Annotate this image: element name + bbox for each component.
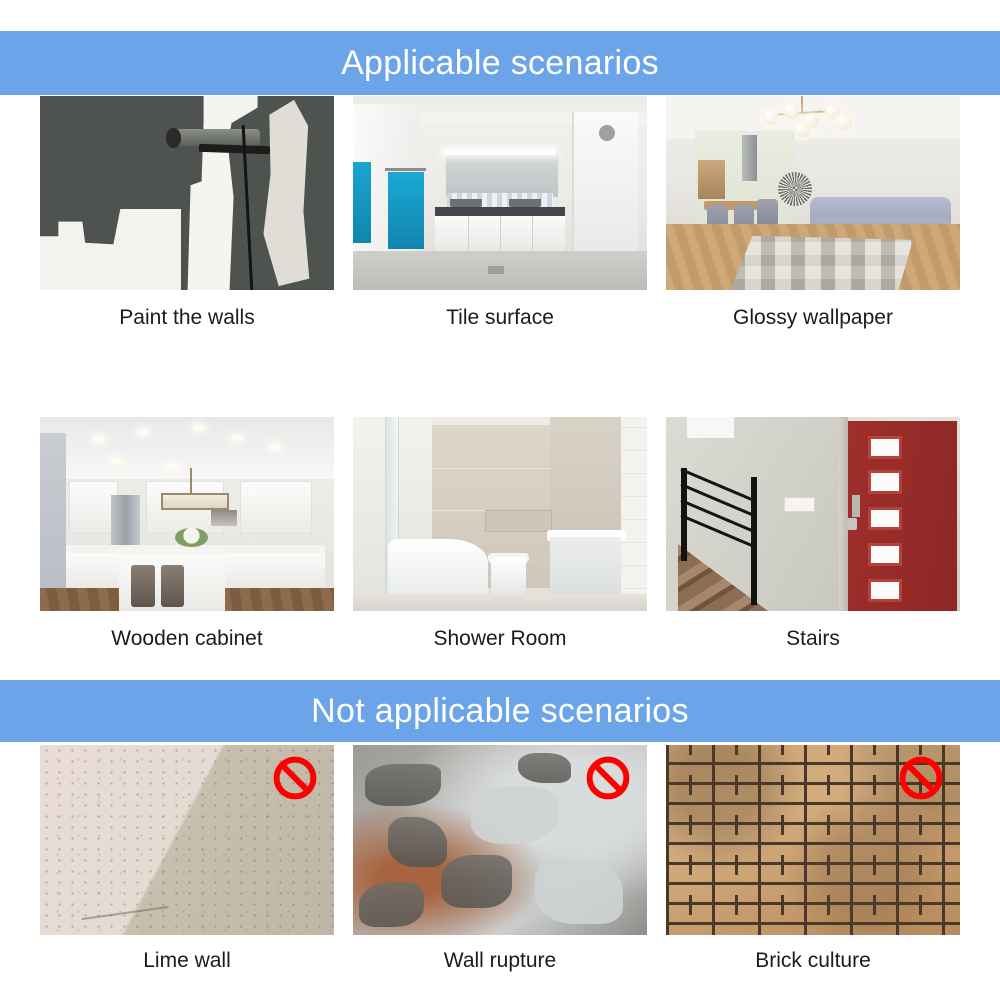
scenario-card-wooden-cabinet[interactable]: Wooden cabinet — [40, 417, 334, 650]
paint-flake — [359, 882, 424, 928]
floor-drain — [488, 266, 504, 274]
caption-stairs: Stairs — [666, 627, 960, 650]
door-glass-lite — [868, 470, 902, 493]
tile-grout-line — [432, 468, 550, 469]
towel-bar — [385, 168, 426, 171]
recessed-light — [111, 458, 123, 464]
kitchen-ceiling — [40, 417, 334, 479]
scenario-card-glossy-wallpaper[interactable]: Glossy wallpaper — [666, 96, 960, 329]
scenario-card-tile-surface[interactable]: Tile surface — [353, 96, 647, 329]
door-glass-lite — [868, 579, 902, 602]
pendant-rod — [190, 468, 192, 493]
shower-far-right-tiles — [621, 417, 647, 611]
prohibition-icon — [898, 755, 944, 801]
photo-glossy-wallpaper — [666, 96, 960, 290]
bar-stool — [161, 565, 185, 608]
caption-lime-wall: Lime wall — [40, 949, 334, 972]
shower-room-floor — [353, 594, 647, 611]
photo-stairs — [666, 417, 960, 611]
scenario-card-stairs[interactable]: Stairs — [666, 417, 960, 650]
exposed-plaster-patch — [535, 859, 623, 924]
photo-brick-culture — [666, 745, 960, 935]
range-hood — [742, 135, 757, 182]
window — [698, 160, 724, 199]
microwave — [211, 510, 237, 526]
door-glass-lite — [868, 507, 902, 530]
scenario-card-lime-wall[interactable]: Lime wall — [40, 745, 334, 972]
door-glass-lite — [868, 436, 902, 459]
freestanding-bathtub — [388, 539, 488, 597]
grid-row: Lime wall Wall rupture — [40, 745, 960, 972]
banner-applicable-scenarios: Applicable scenarios — [0, 31, 1000, 95]
area-rug — [731, 236, 913, 290]
vanity-countertop — [435, 207, 564, 217]
caption-brick-culture: Brick culture — [666, 949, 960, 972]
scenario-card-shower-room[interactable]: Shower Room — [353, 417, 647, 650]
blue-towel-left — [353, 162, 371, 243]
light-switch-plate — [784, 497, 815, 513]
prohibition-icon — [585, 755, 631, 801]
bathroom-mirror — [444, 148, 560, 199]
chandelier-stem — [801, 96, 803, 112]
vanity-cabinet — [435, 216, 564, 255]
paint-flake — [388, 817, 447, 866]
red-entry-door — [848, 421, 957, 611]
photo-shower-room — [353, 417, 647, 611]
prohibition-icon — [272, 755, 318, 801]
door-jamb — [839, 417, 848, 611]
railing-post-left — [681, 468, 687, 561]
scenario-card-brick-culture[interactable]: Brick culture — [666, 745, 960, 972]
chandelier-bulb — [784, 104, 799, 119]
caption-wooden-cabinet: Wooden cabinet — [40, 627, 334, 650]
door-glass-lite — [868, 543, 902, 566]
chandelier-bulb — [763, 110, 778, 125]
photo-lime-wall — [40, 745, 334, 935]
blue-towel-right — [388, 172, 423, 250]
paint-white-patch-right — [258, 100, 317, 286]
applicable-scenarios-grid: Paint the walls — [40, 96, 960, 650]
not-applicable-scenarios-grid: Lime wall Wall rupture — [40, 745, 960, 972]
kitchen-left-wall — [40, 433, 66, 592]
paint-flake — [441, 855, 512, 908]
grid-row: Paint the walls — [40, 96, 960, 329]
stairwell-window — [687, 417, 734, 438]
paint-white-patch-left — [40, 209, 181, 290]
paint-flake — [365, 764, 441, 806]
exposed-plaster-patch — [471, 787, 559, 844]
chandelier-bulb — [837, 115, 852, 130]
recessed-light — [231, 435, 243, 441]
wall-niche — [485, 510, 552, 531]
banner-applicable-title: Applicable scenarios — [341, 46, 659, 80]
recessed-light — [137, 429, 149, 435]
caption-tile-surface: Tile surface — [353, 306, 647, 329]
caption-glossy-wallpaper: Glossy wallpaper — [666, 306, 960, 329]
railing-post-right — [751, 477, 757, 605]
bar-stool — [131, 565, 155, 608]
shower-head — [599, 125, 615, 141]
door-handle — [847, 518, 857, 530]
photo-paint-the-walls — [40, 96, 334, 290]
banner-not-applicable-scenarios: Not applicable scenarios — [0, 680, 1000, 742]
banner-not-applicable-title: Not applicable scenarios — [311, 694, 689, 728]
scenario-card-paint-the-walls[interactable]: Paint the walls — [40, 96, 334, 329]
photo-wooden-cabinet — [40, 417, 334, 611]
photo-wall-rupture — [353, 745, 647, 935]
caption-wall-rupture: Wall rupture — [353, 949, 647, 972]
chandelier-bulb — [825, 104, 840, 119]
upper-cabinets-right — [240, 481, 313, 533]
grid-row: Wooden cabinet Shower Room — [40, 417, 960, 650]
vanity-seam — [468, 216, 469, 255]
wall-clock — [778, 172, 812, 206]
flower-vase — [175, 528, 207, 547]
recessed-light — [166, 464, 178, 470]
door-deadbolt — [852, 495, 860, 517]
recessed-light — [193, 425, 205, 431]
wall-hung-toilet — [491, 557, 526, 594]
pendant-light — [161, 493, 230, 511]
vanity-light — [444, 150, 556, 155]
photo-tile-surface — [353, 96, 647, 290]
caption-shower-room: Shower Room — [353, 627, 647, 650]
scenario-card-wall-rupture[interactable]: Wall rupture — [353, 745, 647, 972]
vanity-seam — [532, 216, 533, 255]
caption-paint-the-walls: Paint the walls — [40, 306, 334, 329]
paint-flake — [518, 753, 571, 783]
vanity-seam — [500, 216, 501, 255]
